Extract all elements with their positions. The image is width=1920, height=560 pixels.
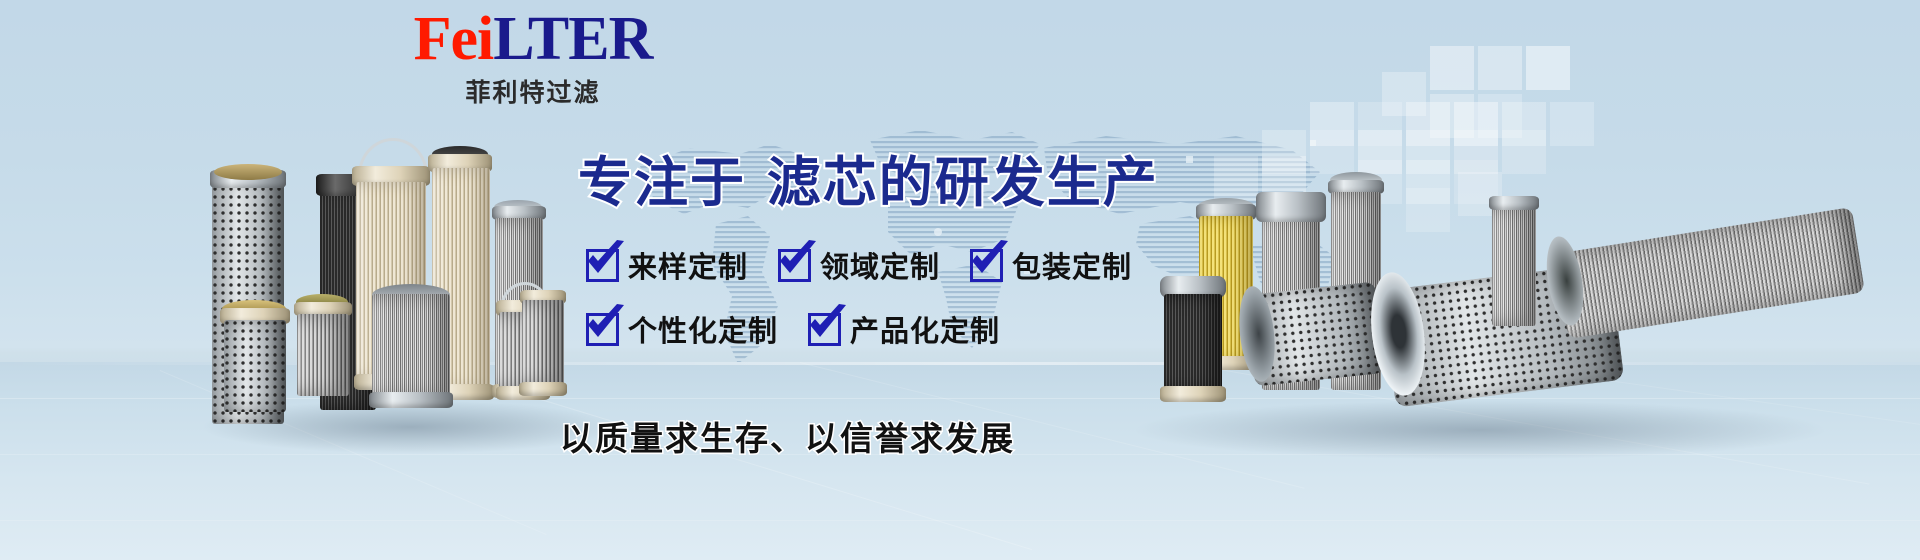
checkbox-checked-icon (970, 249, 1003, 282)
promo-banner: FeiLTER 菲利特过滤 专注于 滤芯的研发生产 来样定制 领域定制 (0, 0, 1920, 560)
logo-wordmark-primary: Fei (414, 5, 494, 73)
logo-subtitle: 菲利特过滤 (388, 80, 678, 105)
feature-item[interactable]: 个性化定制 (586, 308, 778, 350)
headline: 专注于 滤芯的研发生产 (578, 138, 1159, 217)
slogan: 以质量求生存、以信誉求发展 (560, 412, 1015, 460)
checkbox-checked-icon (778, 249, 811, 282)
feature-label: 产品化定制 (850, 308, 1000, 350)
feature-item[interactable]: 来样定制 (586, 244, 748, 286)
feature-label: 个性化定制 (628, 308, 778, 350)
logo-wordmark-secondary: LTER (493, 5, 652, 73)
checkbox-checked-icon (808, 313, 841, 346)
logo-wordmark: FeiLTER (388, 8, 678, 70)
feature-label: 领域定制 (820, 244, 940, 286)
floor-plane (0, 362, 1920, 560)
logo: FeiLTER 菲利特过滤 (388, 8, 678, 105)
feature-item[interactable]: 领域定制 (778, 244, 940, 286)
feature-label: 来样定制 (628, 244, 748, 286)
mosaic-squares (1240, 10, 1760, 310)
feature-list: 来样定制 领域定制 包装定制 个性化定制 (586, 244, 1226, 372)
feature-row: 来样定制 领域定制 包装定制 (586, 244, 1226, 286)
feature-row: 个性化定制 产品化定制 (586, 308, 1226, 350)
checkbox-checked-icon (586, 249, 619, 282)
feature-item[interactable]: 产品化定制 (808, 308, 1000, 350)
feature-label: 包装定制 (1012, 244, 1132, 286)
checkbox-checked-icon (586, 313, 619, 346)
feature-item[interactable]: 包装定制 (970, 244, 1132, 286)
